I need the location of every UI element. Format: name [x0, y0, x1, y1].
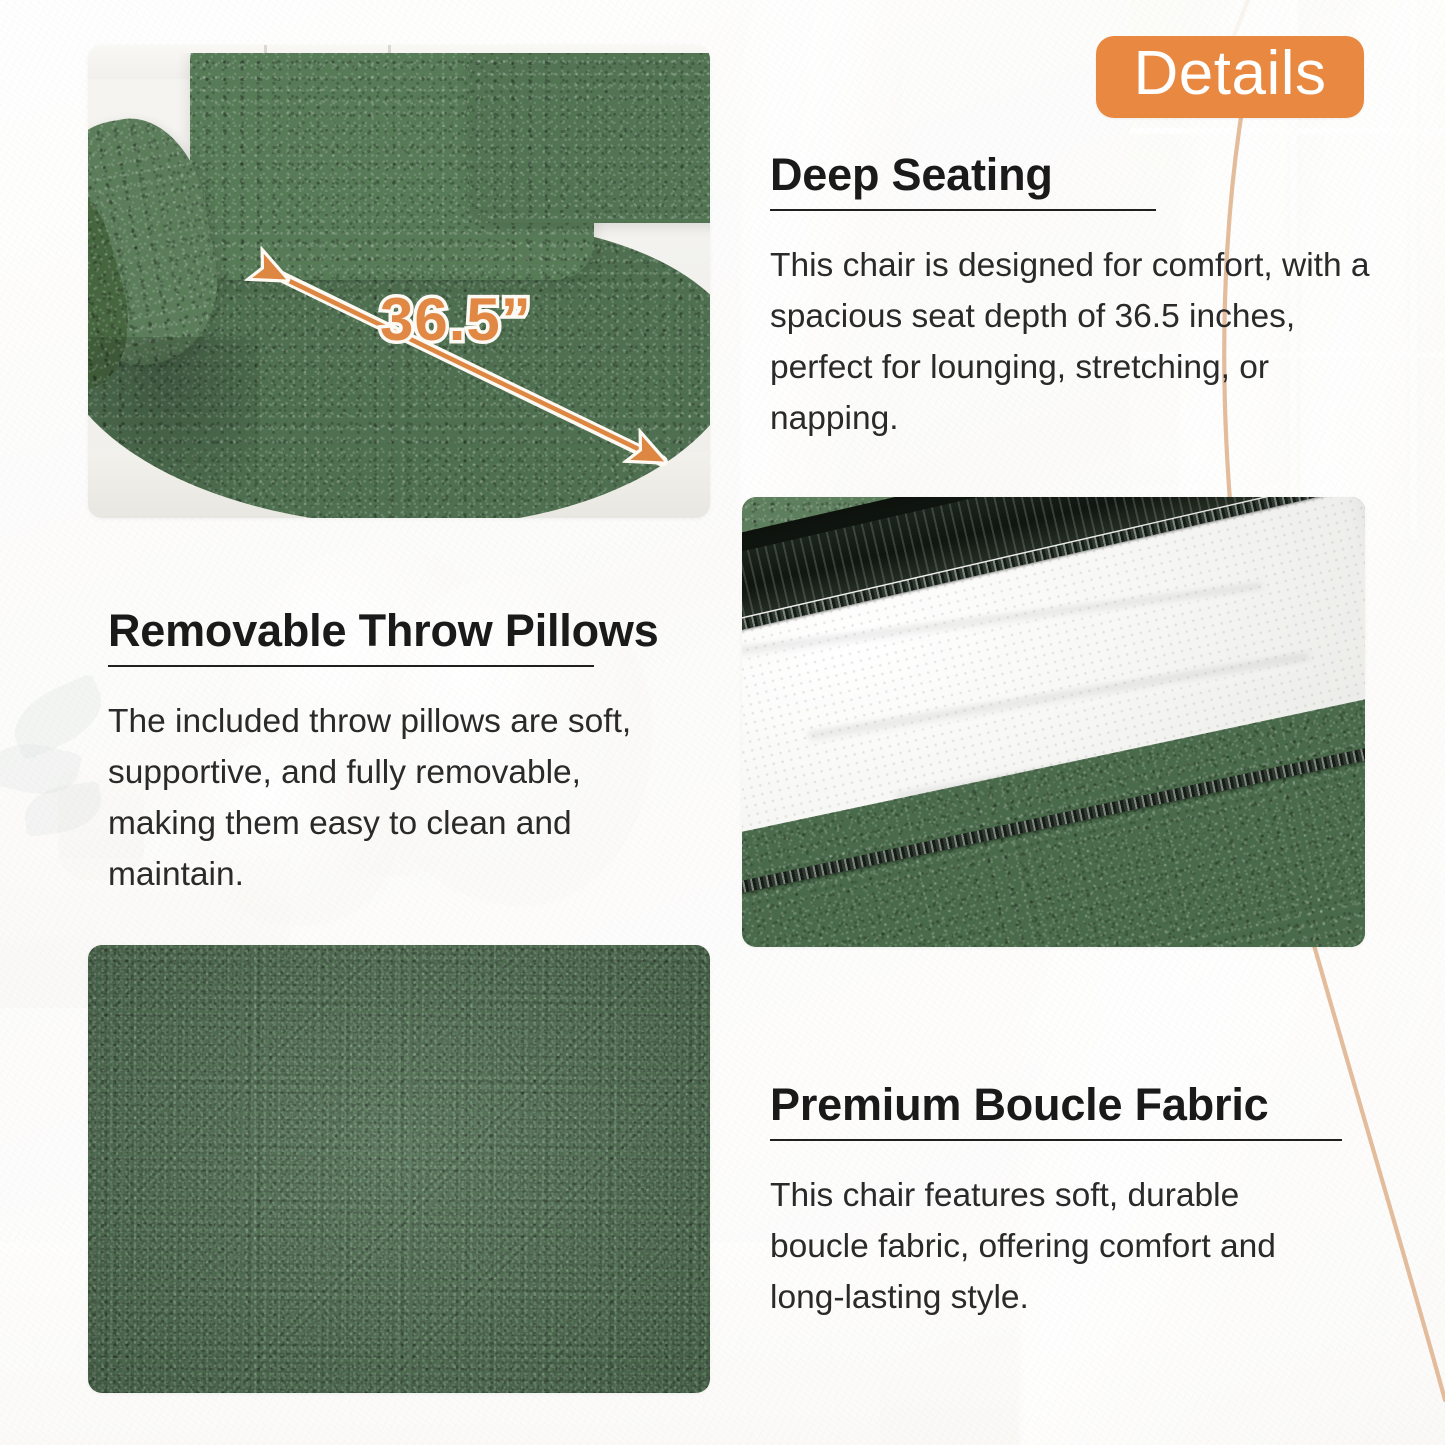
- product-details-page: 36.5” Details: [0, 0, 1445, 1445]
- details-badge: Details: [1096, 36, 1364, 118]
- feature-body: This chair is designed for comfort, with…: [770, 241, 1370, 445]
- feature-removable-throw-pillows: Removable Throw Pillows The included thr…: [108, 608, 708, 900]
- feature-title-rule: [770, 1139, 1342, 1141]
- boucle-fabric-swatch-photo: [88, 945, 710, 1393]
- feature-body: This chair features soft, durable boucle…: [770, 1171, 1330, 1324]
- feature-deep-seating: Deep Seating This chair is designed for …: [770, 152, 1370, 444]
- fabric-vignette: [88, 945, 710, 1393]
- sofa-seat-photo: 36.5”: [88, 45, 710, 518]
- feature-title-rule: [108, 665, 594, 667]
- feature-premium-boucle-fabric: Premium Boucle Fabric This chair feature…: [770, 1082, 1370, 1324]
- details-badge-label: Details: [1133, 43, 1326, 111]
- feature-title: Deep Seating: [770, 152, 1370, 199]
- feature-title: Premium Boucle Fabric: [770, 1082, 1370, 1129]
- fabric-surface: [88, 945, 710, 1393]
- feature-body: The included throw pillows are soft, sup…: [108, 697, 688, 901]
- dimension-label: 36.5”: [380, 285, 532, 354]
- dimension-arrow: [88, 45, 710, 518]
- cushion-zipper-photo: [742, 497, 1365, 947]
- feature-title: Removable Throw Pillows: [108, 608, 708, 655]
- feature-title-rule: [770, 209, 1156, 211]
